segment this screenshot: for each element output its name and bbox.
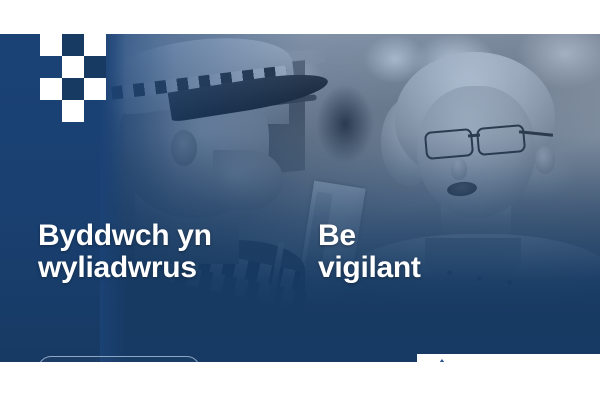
south-wales-police-crest-icon — [426, 358, 458, 362]
police-checkerboard-icon — [40, 34, 108, 114]
south-wales-police-logo: HEDDLU DE CYMRU SOUTH WALES POLICE — [417, 354, 600, 362]
headline-welsh: Byddwch yn wyliadwrus — [38, 220, 212, 285]
website-url-pill[interactable]: www.south-wales.police.uk — [38, 356, 200, 362]
campaign-banner: Byddwch yn wyliadwrus Be vigilant www.so… — [0, 34, 600, 362]
headline-english: Be vigilant — [318, 220, 421, 285]
